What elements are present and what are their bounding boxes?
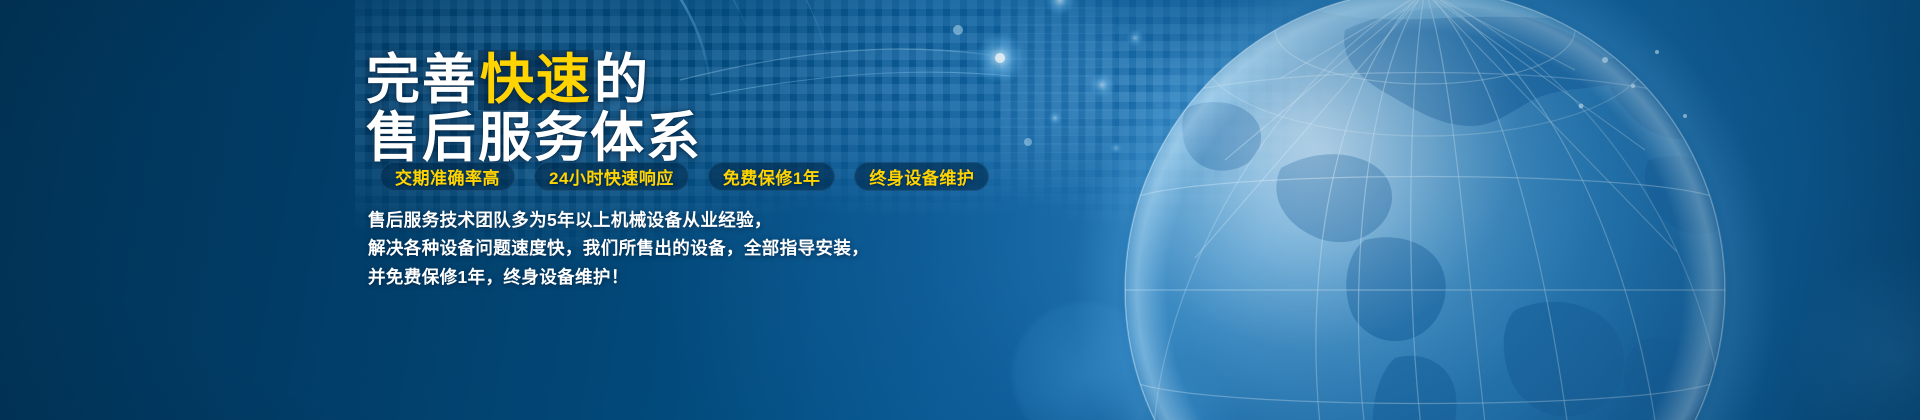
description-line-3: 并免费保修1年，终身设备维护！ — [368, 263, 988, 291]
headline-line-2: 售后服务体系 — [366, 110, 1006, 168]
feature-tag-free-warranty[interactable]: 免费保修1年 — [708, 162, 835, 191]
bokeh-circle-icon — [1330, 0, 1520, 130]
headline-line1-part3: 的 — [594, 50, 650, 110]
headline-line-1: 完善快速的 — [366, 52, 1006, 110]
description-paragraph: 售后服务技术团队多为5年以上机械设备从业经验， 解决各种设备问题速度快，我们所售… — [368, 206, 988, 291]
bokeh-circle-icon — [1120, 360, 1240, 420]
feature-tag-delivery-accuracy[interactable]: 交期准确率高 — [380, 162, 515, 191]
pixel-grid-pattern-secondary — [1000, 0, 1420, 290]
globe-graphic — [1045, 0, 1805, 420]
feature-tag-list: 交期准确率高 24小时快速响应 免费保修1年 终身设备维护 — [380, 162, 989, 191]
feature-tag-24h-response[interactable]: 24小时快速响应 — [534, 162, 689, 191]
description-line-2: 解决各种设备问题速度快，我们所售出的设备，全部指导安装， — [368, 234, 988, 262]
banner-content: 完善快速的 售后服务体系 交期准确率高 24小时快速响应 免费保修1年 终身设备… — [366, 0, 986, 420]
headline-line1-highlight: 快速 — [478, 50, 594, 110]
description-line-1: 售后服务技术团队多为5年以上机械设备从业经验， — [368, 206, 988, 234]
bokeh-circle-icon — [1010, 300, 1160, 420]
headline-group: 完善快速的 售后服务体系 — [366, 52, 1006, 168]
service-banner: 完善快速的 售后服务体系 交期准确率高 24小时快速响应 免费保修1年 终身设备… — [0, 0, 1920, 420]
headline-line1-part1: 完善 — [366, 50, 478, 110]
bokeh-circle-icon — [1790, 250, 1920, 420]
feature-tag-lifetime-maintenance[interactable]: 终身设备维护 — [854, 162, 989, 191]
headline-line2-text: 售后服务体系 — [366, 108, 702, 168]
